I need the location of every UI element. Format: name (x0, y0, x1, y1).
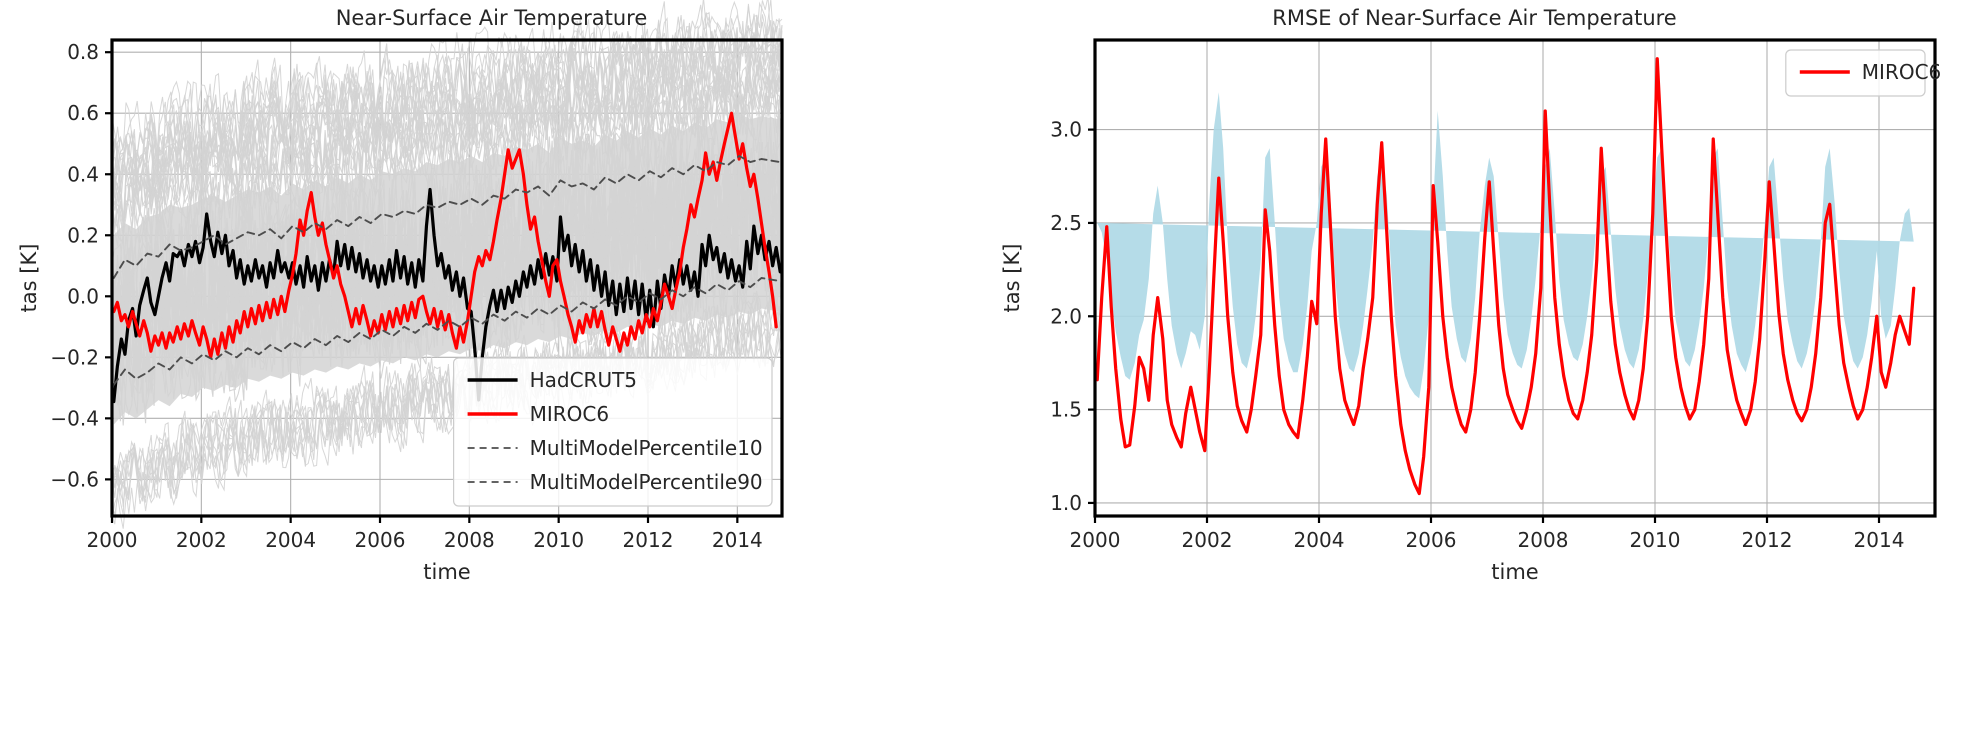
x-tick-label: 2012 (623, 528, 674, 552)
y-tick-label: −0.2 (50, 345, 99, 369)
figure-canvas: Near-Surface Air Temperature 20002002200… (0, 0, 1966, 737)
y-tick-label: 1.5 (1050, 398, 1082, 422)
panel-rmse: RMSE of Near-Surface Air Temperature 200… (983, 0, 1966, 737)
x-axis-label: time (1491, 560, 1538, 584)
x-tick-label: 2008 (1518, 528, 1569, 552)
legend-label-multimodelpercentile90: MultiModelPercentile90 (530, 470, 763, 494)
x-tick-label: 2014 (712, 528, 763, 552)
left-chart-title: Near-Surface Air Temperature (0, 6, 983, 30)
y-tick-label: 0.0 (67, 284, 99, 308)
y-tick-label: 0.4 (67, 162, 99, 186)
y-tick-label: 2.0 (1050, 304, 1082, 328)
y-tick-label: 3.0 (1050, 118, 1082, 142)
x-tick-label: 2010 (1630, 528, 1681, 552)
x-tick-label: 2000 (1070, 528, 1121, 552)
y-axis-label: tas [K] (1000, 244, 1024, 313)
x-tick-label: 2002 (176, 528, 227, 552)
right-chart-svg: 200020022004200620082010201220143.02.52.… (983, 0, 1966, 737)
right-chart-title: RMSE of Near-Surface Air Temperature (983, 6, 1966, 30)
y-tick-label: 1.0 (1050, 491, 1082, 515)
rmse-spread-band (1097, 92, 1914, 398)
y-tick-label: 0.8 (67, 40, 99, 64)
legend-label-miroc6: MIROC6 (1862, 60, 1941, 84)
legend-label-miroc6: MIROC6 (530, 402, 609, 426)
panel-temperature: Near-Surface Air Temperature 20002002200… (0, 0, 983, 737)
x-tick-label: 2000 (87, 528, 138, 552)
left-chart-svg: 200020022004200620082010201220140.80.60.… (0, 0, 983, 737)
x-tick-label: 2004 (265, 528, 316, 552)
legend: MIROC6 (1786, 50, 1941, 96)
y-tick-label: 2.5 (1050, 211, 1082, 235)
x-tick-label: 2014 (1854, 528, 1905, 552)
legend: HadCRUT5MIROC6MultiModelPercentile10Mult… (454, 358, 772, 506)
x-tick-label: 2008 (444, 528, 495, 552)
y-tick-label: −0.4 (50, 406, 99, 430)
y-tick-label: 0.6 (67, 101, 99, 125)
x-tick-label: 2006 (355, 528, 406, 552)
x-tick-label: 2012 (1742, 528, 1793, 552)
legend-label-hadcrut5: HadCRUT5 (530, 368, 637, 392)
y-tick-label: 0.2 (67, 223, 99, 247)
legend-label-multimodelpercentile10: MultiModelPercentile10 (530, 436, 763, 460)
x-tick-label: 2006 (1406, 528, 1457, 552)
y-axis-label: tas [K] (17, 244, 41, 313)
x-tick-label: 2002 (1182, 528, 1233, 552)
y-tick-label: −0.6 (50, 467, 99, 491)
x-tick-label: 2010 (533, 528, 584, 552)
x-tick-label: 2004 (1294, 528, 1345, 552)
x-axis-label: time (423, 560, 470, 584)
